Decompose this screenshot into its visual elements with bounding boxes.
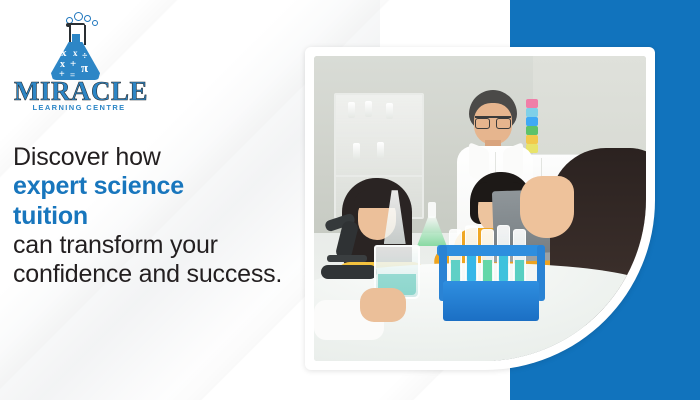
brand-logo[interactable]: x x ÷ x + π + = MIRACLE LEARNING CENTRE bbox=[14, 12, 144, 112]
classroom-photo bbox=[314, 56, 646, 361]
headline-line-5: confidence and success. bbox=[13, 260, 303, 289]
lab-scene bbox=[314, 56, 646, 361]
headline-line-4: can transform your bbox=[13, 231, 303, 260]
teacher-glasses bbox=[475, 116, 511, 127]
promo-banner: x x ÷ x + π + = MIRACLE LEARNING CENTRE … bbox=[0, 0, 700, 400]
headline-line-3: tuition bbox=[13, 202, 303, 231]
photo-card bbox=[305, 47, 655, 370]
flask-symbol-1: x bbox=[61, 48, 67, 59]
test-tube-rack bbox=[437, 233, 547, 321]
flask-symbol-6: π bbox=[81, 61, 88, 74]
microscope-stage bbox=[327, 255, 367, 262]
student-c-face bbox=[520, 176, 574, 238]
brand-name: MIRACLE bbox=[14, 78, 144, 105]
headline-line-2: expert science bbox=[13, 172, 303, 201]
microscope-base bbox=[321, 265, 377, 279]
brand-tagline: LEARNING CENTRE bbox=[14, 104, 144, 112]
headline-line-1: Discover how bbox=[13, 143, 303, 172]
conical-flask-icon: x x ÷ x + π + = bbox=[48, 12, 102, 80]
hand-holding-beaker bbox=[360, 288, 406, 322]
headline-block: Discover how expert science tuition can … bbox=[13, 143, 303, 289]
flask-symbol-2: x bbox=[73, 49, 78, 58]
rack-top-rail bbox=[437, 245, 545, 256]
rack-base bbox=[443, 281, 539, 321]
flask-symbol-5: + bbox=[70, 59, 76, 70]
